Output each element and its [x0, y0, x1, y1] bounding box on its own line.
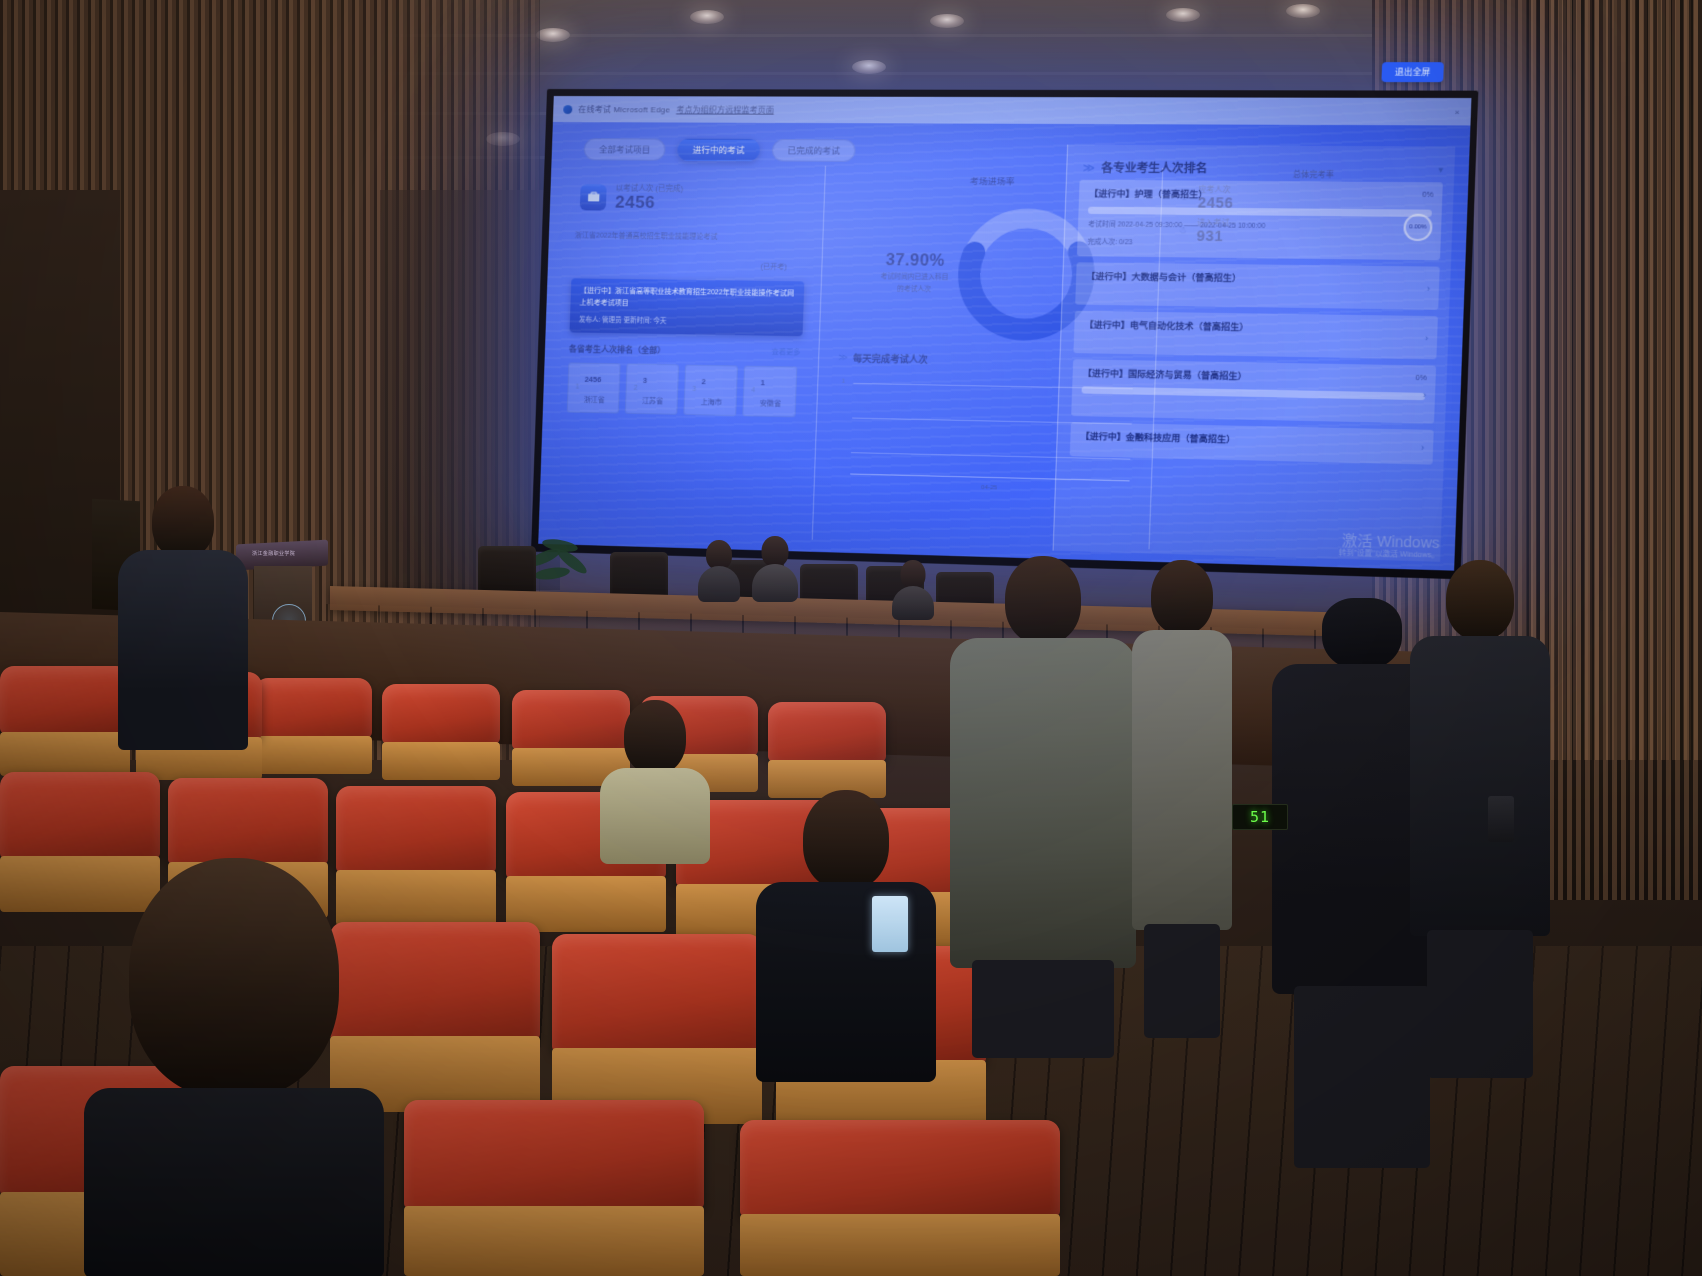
y-axis-tick: 1: [841, 379, 845, 385]
major-detail-time: 考试时间 2022-04-25 09:30:00 —— 2022-04-25 1…: [1088, 219, 1432, 235]
major-name: 【进行中】国际经济与贸易（普高招生）: [1082, 367, 1425, 386]
led-counter-display: 51: [1232, 804, 1288, 830]
seated-attendee: [600, 700, 710, 860]
province-rank-header: 各省考生人次排名（全部） 查看更多: [569, 343, 801, 358]
chevron-right-icon[interactable]: ›: [1425, 333, 1429, 344]
progress-bar: [1082, 387, 1425, 401]
list-item[interactable]: 【进行中】国际经济与贸易（普高招生） 0% ›: [1072, 360, 1436, 424]
list-item[interactable]: 【进行中】电气自动化技术（普高招生） ›: [1074, 311, 1438, 360]
audience-seat: [0, 666, 130, 776]
major-detail-count: 完成人次: 0/23: [1087, 236, 1430, 252]
close-icon[interactable]: ×: [1454, 107, 1460, 117]
major-name: 【进行中】电气自动化技术（普高招生）: [1084, 319, 1427, 337]
region-rank: 3: [692, 386, 696, 393]
mobile-phone[interactable]: [1488, 796, 1514, 842]
x-axis-tick: 04-25: [981, 485, 997, 492]
donut-sub-line1: 考试时间内已进入科目: [853, 272, 976, 284]
browser-favicon-icon: [563, 105, 572, 114]
chevron-right-icon[interactable]: ›: [1423, 390, 1427, 401]
major-name: 【进行中】护理（普高招生）: [1089, 187, 1433, 202]
audience-seat: [404, 1100, 704, 1276]
chevron-right-icon[interactable]: ›: [1426, 283, 1430, 294]
podium-plaque: 浙江金融职业学院: [252, 550, 295, 557]
province-rank-title: 各省考生人次排名（全部）: [569, 343, 666, 356]
major-percent: 0%: [1422, 192, 1433, 199]
audience-seat: [552, 934, 762, 1124]
chevron-right-icon: ≫: [1082, 161, 1093, 174]
major-ranking-header: ≫ 各专业考生人次排名 ▾: [1082, 159, 1443, 178]
donut-sub-line2: 的考试人次: [853, 284, 976, 296]
standing-attendee: [1410, 560, 1550, 1080]
exam-banner-card[interactable]: 【进行中】浙江省高等职业技术教育招生2022年职业技能操作考试网上机考考试项目 …: [570, 278, 805, 336]
column-left: 以考试人次 (已完成) 2456 浙江省2022年普通高校招生职业技能理论考试 …: [553, 164, 827, 540]
region-name: 上海市: [701, 399, 723, 407]
browser-url[interactable]: 考点为组织方远程监考页面: [676, 104, 774, 115]
progress-bar: [1088, 207, 1431, 217]
list-item[interactable]: 【进行中】金融科技应用（普高招生） ›: [1070, 423, 1434, 465]
standing-attendee: [1132, 560, 1232, 1040]
wood-slat-wall-far-right: [1527, 0, 1702, 900]
chevron-right-icon: ≫: [838, 352, 846, 363]
list-item[interactable]: 4 1 安徽省: [742, 366, 797, 418]
region-count: 1: [760, 378, 765, 387]
region-count: 2456: [584, 375, 601, 384]
tab-all-exams[interactable]: 全部考试项目: [584, 138, 666, 161]
chevron-right-icon[interactable]: ›: [1421, 442, 1425, 453]
ceiling-light: [852, 60, 886, 74]
briefcase-icon: [580, 184, 607, 210]
list-item[interactable]: 2 3 江苏省: [625, 363, 679, 414]
panelist: [892, 560, 934, 616]
seated-attendee: [756, 790, 936, 1090]
audience-seat: [768, 702, 886, 798]
projected-dashboard: 在线考试 Microsoft Edge 考点为组织方远程监考页面 × 全部考试项…: [538, 96, 1471, 571]
province-rank-list: 1 2456 浙江省 2 3 江苏省: [567, 362, 800, 417]
panelist: [698, 540, 740, 598]
list-item[interactable]: 【进行中】护理（普高招生） 0% 考试时间 2022-04-25 09:30:0…: [1077, 180, 1442, 261]
browser-tab-bar: 在线考试 Microsoft Edge 考点为组织方远程监考页面 ×: [553, 96, 1472, 125]
region-count: 3: [643, 376, 648, 385]
exam-count-stat: 以考试人次 (已完成) 2456: [580, 182, 817, 214]
seated-attendee-foreground: [84, 858, 384, 1276]
standing-attendee: [950, 556, 1136, 1056]
region-rank: 4: [751, 387, 755, 394]
ceiling-light: [1286, 4, 1320, 18]
projection-screen: 在线考试 Microsoft Edge 考点为组织方远程监考页面 × 全部考试项…: [538, 96, 1471, 571]
chevron-down-icon[interactable]: ▾: [1438, 164, 1443, 176]
notice-title: 浙江省2022年普通高校招生职业技能理论考试: [575, 230, 815, 244]
panelist: [752, 536, 798, 598]
major-name: 【进行中】金融科技应用（普高招生）: [1080, 430, 1423, 450]
audience-seat: [382, 684, 500, 780]
donut-percent: 37.90%: [854, 252, 977, 272]
auditorium-scene: 在线考试 Microsoft Edge 考点为组织方远程监考页面 × 全部考试项…: [0, 0, 1702, 1276]
browser-tab-title[interactable]: 在线考试 Microsoft Edge: [578, 104, 670, 115]
exam-count-label: 以考试人次 (已完成): [615, 183, 683, 195]
audience-seat: [740, 1120, 1060, 1276]
major-ranking-title: 各专业考生人次排名: [1101, 159, 1208, 176]
ceiling-light: [690, 10, 724, 24]
region-name: 江苏省: [642, 398, 663, 405]
exam-count-value: 2456: [615, 194, 683, 213]
major-percent: 0%: [1415, 375, 1426, 383]
tab-ongoing-exams[interactable]: 进行中的考试: [677, 139, 760, 162]
donut-center-label: 37.90% 考试时间内已进入科目 的考试人次: [853, 252, 977, 297]
region-name: 浙江省: [584, 397, 605, 404]
list-item[interactable]: 【进行中】大数据与会计（普高招生） ›: [1076, 263, 1440, 311]
ceiling-light: [536, 28, 570, 42]
region-name: 安徽省: [760, 400, 782, 408]
major-name: 【进行中】大数据与会计（普高招生）: [1086, 270, 1429, 287]
audience-seat: [254, 678, 372, 774]
mobile-phone[interactable]: [872, 896, 908, 952]
standing-attendee: [118, 486, 248, 786]
region-rank: 1: [575, 384, 579, 391]
exam-banner-meta: 发布人: 管理员 更新时间: 今天: [579, 314, 795, 329]
list-item[interactable]: 1 2456 浙江省: [567, 362, 621, 413]
list-item[interactable]: 3 2 上海市: [683, 364, 738, 416]
exam-banner-title: 【进行中】浙江省高等职业技术教育招生2022年职业技能操作考试网上机考考试项目: [579, 286, 795, 313]
region-count: 2: [701, 377, 706, 386]
exit-fullscreen-button[interactable]: 退出全屏: [1381, 62, 1444, 82]
province-rank-more-link[interactable]: 查看更多: [771, 347, 800, 358]
ceiling-light: [1166, 8, 1200, 22]
windows-activation-watermark: 激活 Windows 转到"设置"以激活 Windows。: [1338, 531, 1439, 561]
notice-status: (已开考): [574, 259, 814, 273]
major-ranking-panel: ≫ 各专业考生人次排名 ▾ 【进行中】护理（普高招生） 0% 考试时间 2022…: [1053, 145, 1455, 562]
status-badge: 0.00%: [1403, 214, 1433, 242]
ceiling-light: [930, 14, 964, 28]
tab-completed-exams[interactable]: 已完成的考试: [772, 139, 856, 162]
region-rank: 2: [634, 385, 638, 392]
daily-chart-title: 每天完成考试人次: [853, 351, 928, 366]
